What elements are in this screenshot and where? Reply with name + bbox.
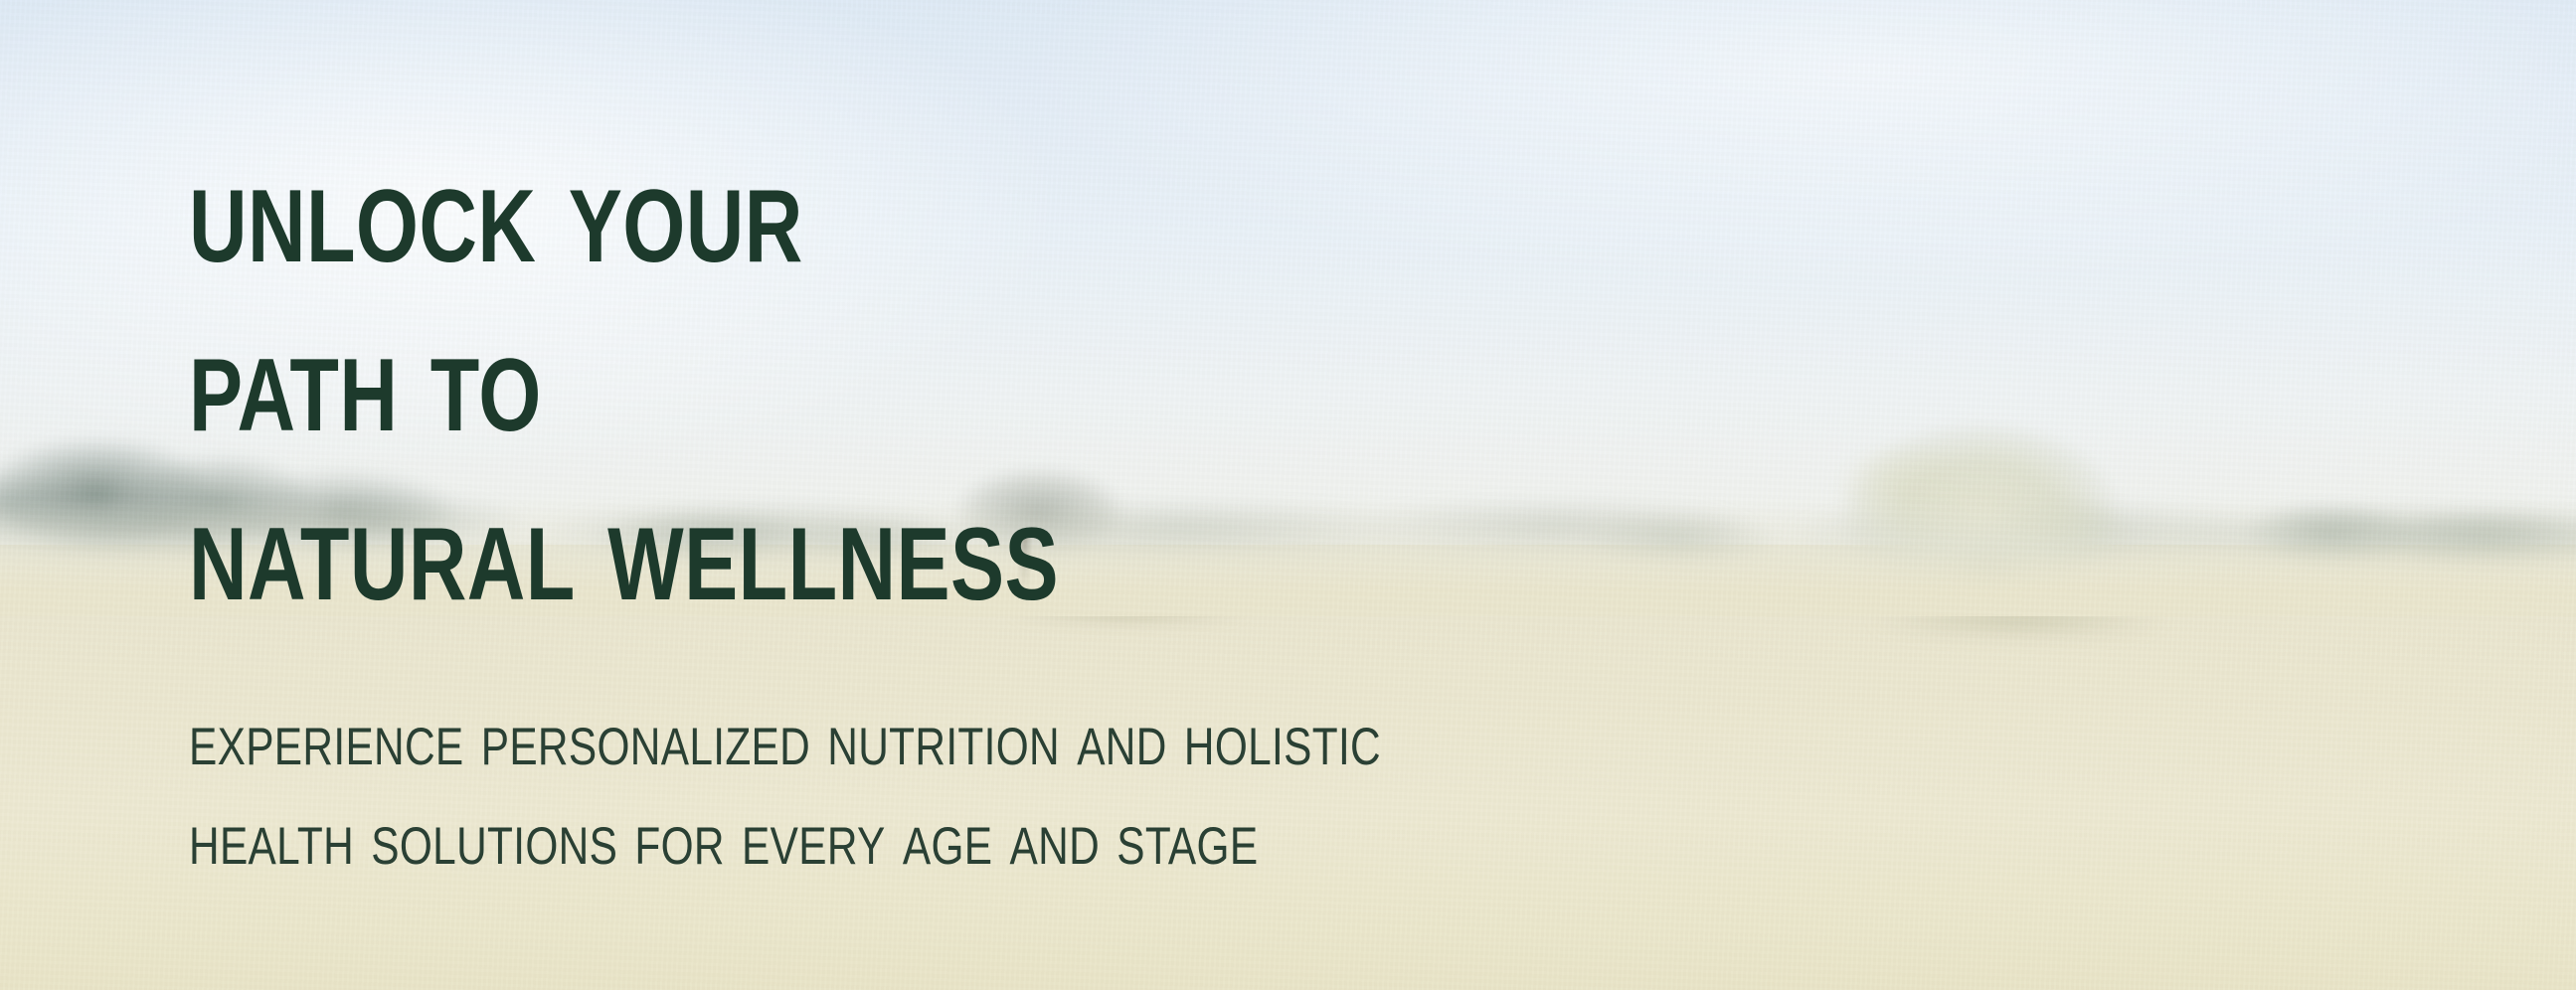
hero-headline: Unlock Your Path To Natural Wellness (189, 127, 1059, 634)
subtitle-line-2: Health Solutions for Every Age and Stage (189, 789, 1381, 889)
hero-banner: Unlock Your Path To Natural Wellness Exp… (0, 0, 2576, 990)
subtitle-line-1: Experience Personalized Nutrition and Ho… (189, 690, 1381, 789)
headline-line-2: Path To (189, 296, 1059, 465)
headline-line-1: Unlock Your (189, 127, 1059, 296)
hero-content: Unlock Your Path To Natural Wellness Exp… (189, 0, 2177, 990)
hero-subtitle: Experience Personalized Nutrition and Ho… (189, 690, 1381, 889)
headline-line-3: Natural Wellness (189, 465, 1059, 634)
